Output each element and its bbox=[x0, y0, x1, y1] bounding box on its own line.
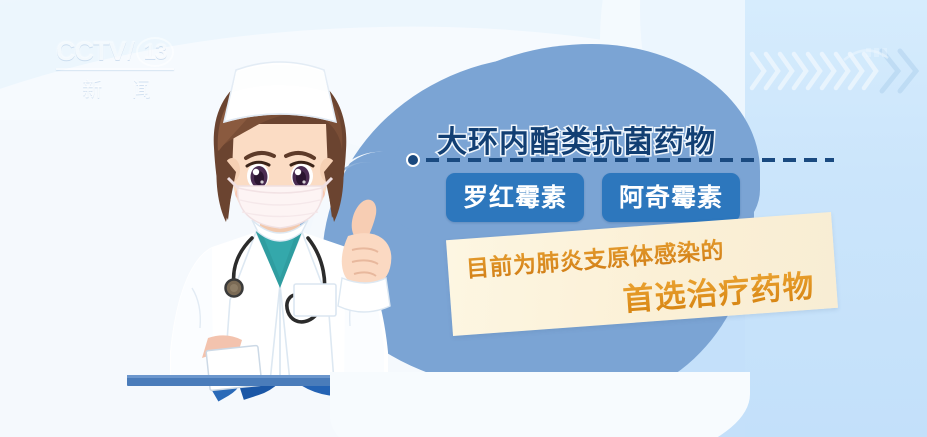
cctv-logo-text: CCTV bbox=[56, 36, 126, 67]
bullet-dot-icon bbox=[406, 153, 420, 167]
drug-tag-azithromycin[interactable]: 阿奇霉素 bbox=[602, 173, 740, 222]
stethoscope-diaphragm bbox=[230, 284, 238, 292]
cctv-logo-slash: / bbox=[128, 36, 134, 67]
face-mask-icon bbox=[228, 178, 332, 228]
pocket-card-icon bbox=[294, 284, 336, 316]
nurse-illustration bbox=[152, 52, 452, 392]
dashed-divider bbox=[406, 153, 834, 167]
drug-tag-list: 罗红霉素 阿奇霉素 bbox=[446, 173, 740, 222]
dashed-line-icon bbox=[426, 158, 834, 162]
thumbs-up-icon bbox=[338, 200, 391, 312]
broadcast-screenshot: CCTV / 13 新 闻 bbox=[0, 0, 927, 437]
nurse-cap-icon bbox=[224, 62, 336, 122]
nurse-illustration-svg bbox=[152, 52, 452, 392]
background-bottom-curve bbox=[330, 372, 750, 437]
chevron-arrows-icon bbox=[748, 40, 923, 102]
drug-tag-roxithromycin[interactable]: 罗红霉素 bbox=[446, 173, 584, 222]
chevron-arrows-svg bbox=[748, 40, 923, 102]
